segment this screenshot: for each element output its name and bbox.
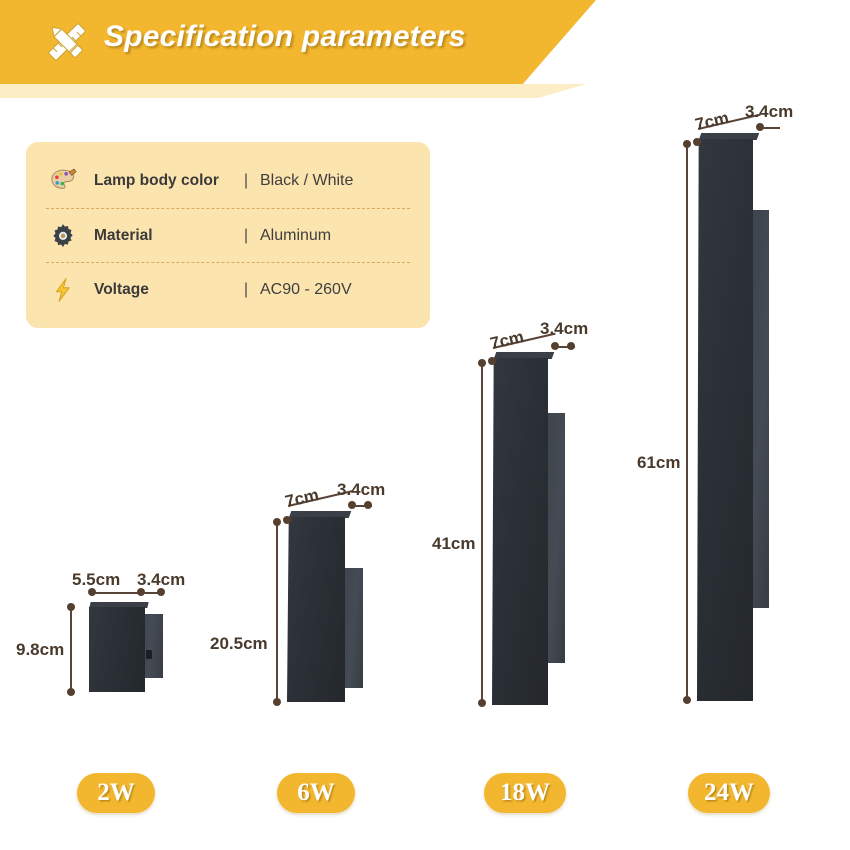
watt-badge-24w[interactable]: 24W (688, 773, 770, 813)
product-figure-24w: 7cm 3.4cm 61cm (0, 0, 850, 850)
lamp-plate-top-edge (699, 133, 760, 140)
watt-badge-2w[interactable]: 2W (77, 773, 155, 813)
height-dimension-label: 61cm (637, 453, 680, 473)
watt-badge-18w[interactable]: 18W (484, 773, 566, 813)
watt-badge-6w[interactable]: 6W (277, 773, 355, 813)
depth-dimension-label: 3.4cm (745, 102, 793, 122)
height-dimension-dot-bottom (683, 696, 691, 704)
height-dimension-line (686, 144, 688, 700)
product-spec-page: Specification parameters Lamp body color… (0, 0, 850, 850)
width-dimension-dot-left (693, 138, 701, 146)
lamp-front-plate (697, 139, 753, 701)
width-dimension-label: 7cm (693, 108, 731, 135)
height-dimension-dot-top (683, 140, 691, 148)
depth-dimension-line (762, 127, 780, 129)
